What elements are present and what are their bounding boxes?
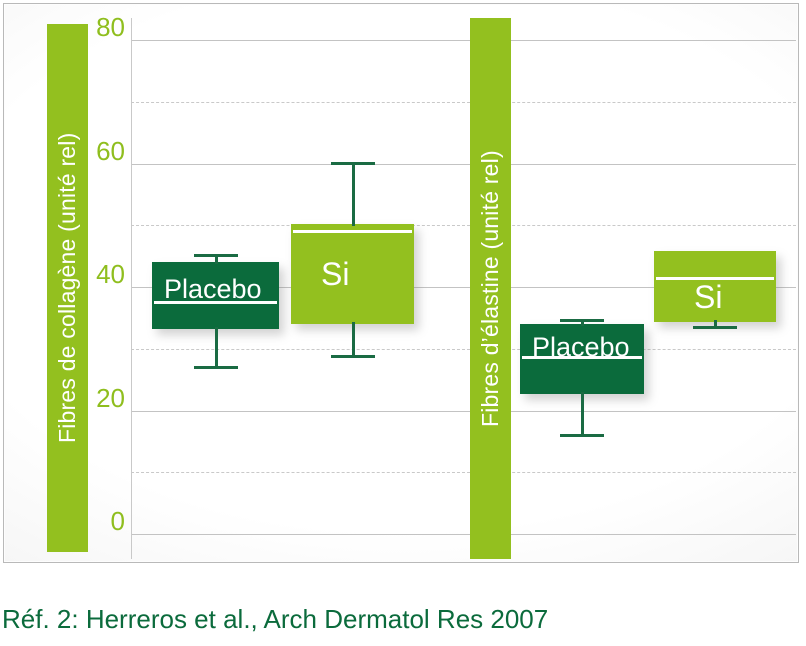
- gridline-minor: [131, 102, 796, 103]
- box-label: Placebo: [164, 276, 262, 303]
- whisker-cap-upper: [560, 319, 604, 322]
- whisker-upper: [352, 162, 355, 226]
- whisker-cap-upper: [194, 254, 238, 257]
- whisker-cap-lower: [194, 366, 238, 369]
- gridline-minor: [131, 349, 796, 350]
- whisker-lower: [352, 322, 355, 355]
- y-axis-title-elastine: Fibres d’élastine (unité rel): [470, 18, 511, 559]
- box-label: Placebo: [532, 334, 630, 361]
- y-axis-title-collagen: Fibres de collagène (unité rel): [47, 24, 88, 552]
- box-rect: [291, 224, 414, 324]
- gridline-major: [131, 411, 796, 412]
- whisker-lower: [215, 327, 218, 366]
- gridline-major: [131, 164, 796, 165]
- gridline-major: [131, 40, 796, 41]
- reference-caption: Réf. 2: Herreros et al., Arch Dermatol R…: [2, 604, 548, 635]
- y-axis-line: [131, 18, 132, 559]
- whisker-cap-lower: [693, 326, 737, 329]
- whisker-lower: [581, 392, 584, 434]
- box-label: Si: [321, 258, 349, 290]
- gridline-minor: [131, 225, 796, 226]
- plot-area: 806040200 PlaceboSiPlaceboSi Fibres de c…: [4, 4, 800, 564]
- chart-frame: 806040200 PlaceboSiPlaceboSi Fibres de c…: [3, 3, 799, 563]
- whisker-cap-lower: [331, 355, 375, 358]
- whisker-cap-lower: [560, 434, 604, 437]
- chart-page: 806040200 PlaceboSiPlaceboSi Fibres de c…: [0, 0, 806, 646]
- gridline-major: [131, 534, 796, 535]
- whisker-cap-upper: [331, 162, 375, 165]
- median-line: [293, 230, 412, 233]
- gridline-minor: [131, 472, 796, 473]
- box-label: Si: [694, 281, 722, 313]
